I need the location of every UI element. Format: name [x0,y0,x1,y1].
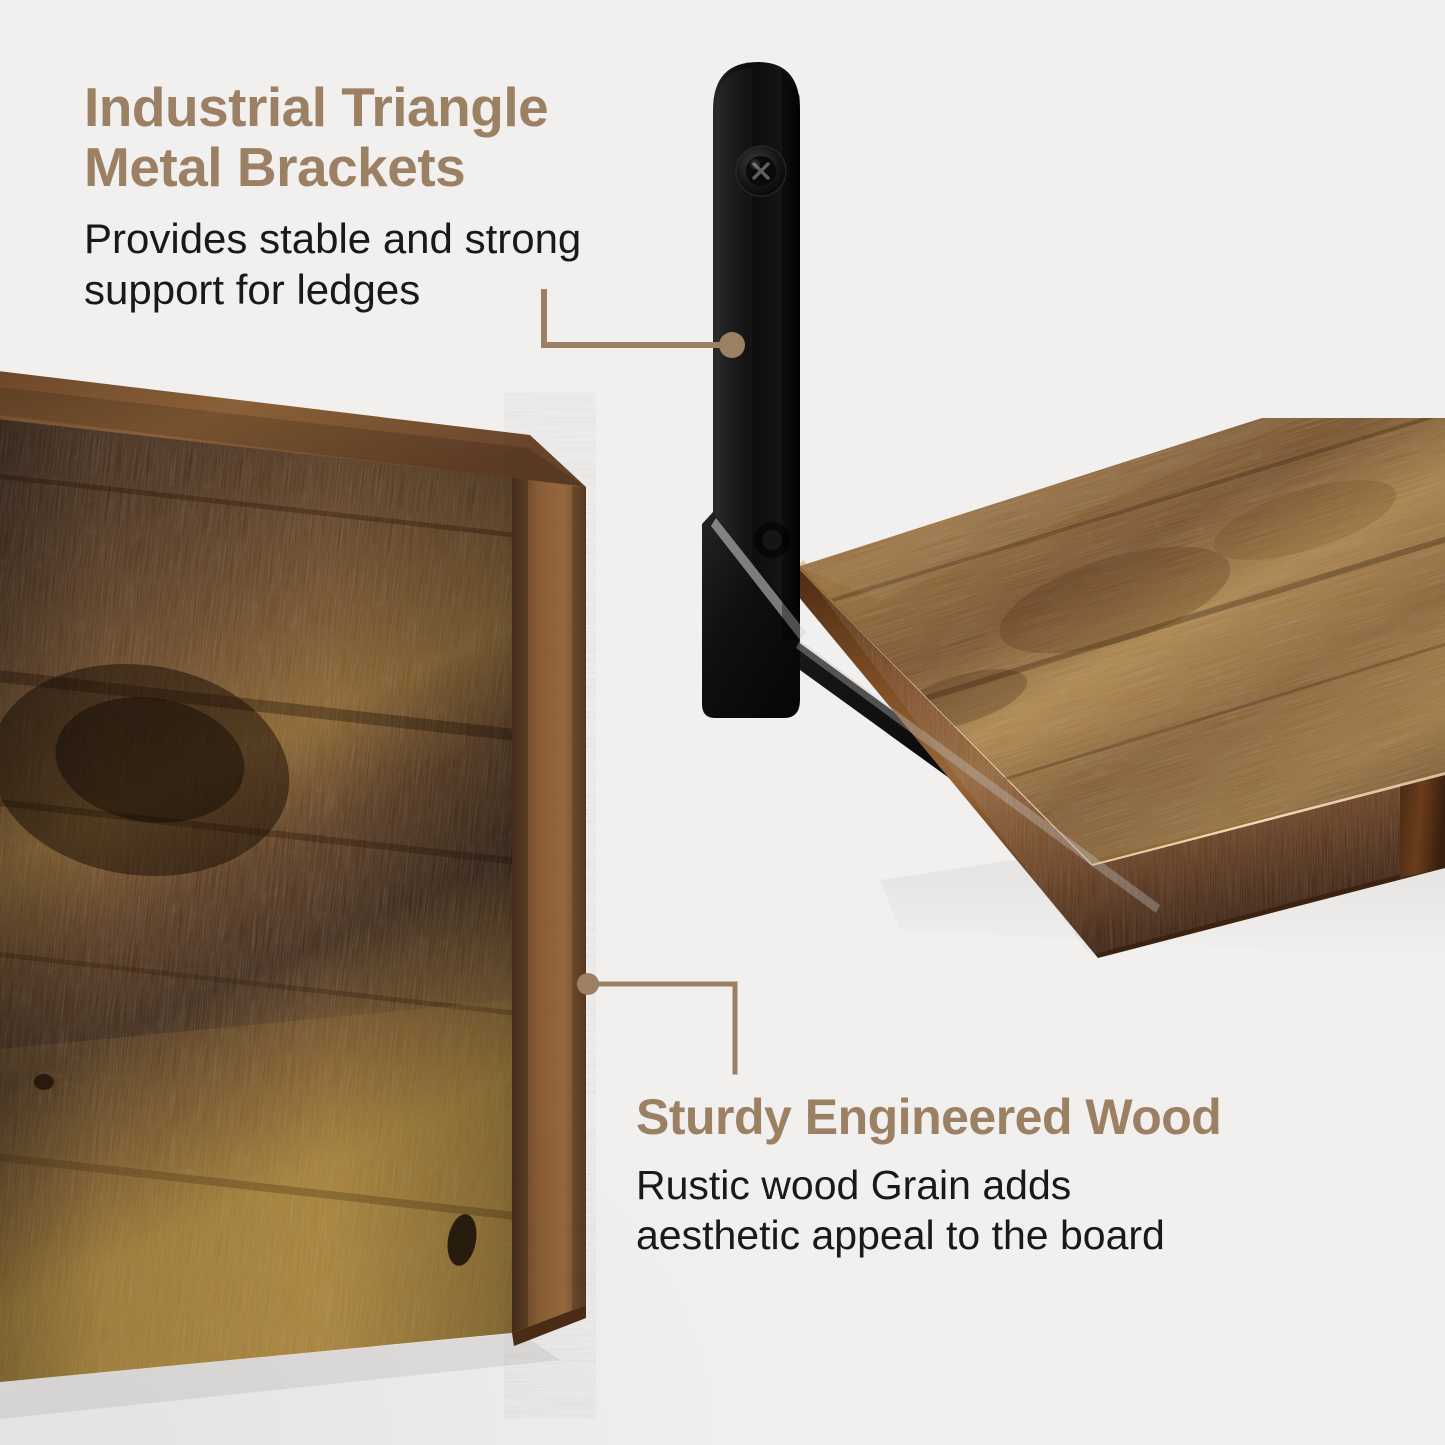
leader-dot [719,332,745,358]
callout-brackets-subtext: Provides stable and strong support for l… [84,213,581,315]
bracket-screw [736,146,786,196]
callout-wood-headline: Sturdy Engineered Wood [636,1090,1426,1145]
callout-wood-subtext: Rustic wood Grain adds aesthetic appeal … [636,1160,1426,1260]
callout-wood: Sturdy Engineered Wood Rustic wood Grain… [636,1090,1426,1260]
callout-brackets: Industrial Triangle Metal Brackets Provi… [84,78,581,315]
leader-dot [577,973,599,995]
callout-brackets-headline: Industrial Triangle Metal Brackets [84,78,581,198]
leader-line-wood [578,972,768,1082]
product-feature-image: Industrial Triangle Metal Brackets Provi… [0,0,1445,1445]
wood-board-left [0,287,801,1445]
